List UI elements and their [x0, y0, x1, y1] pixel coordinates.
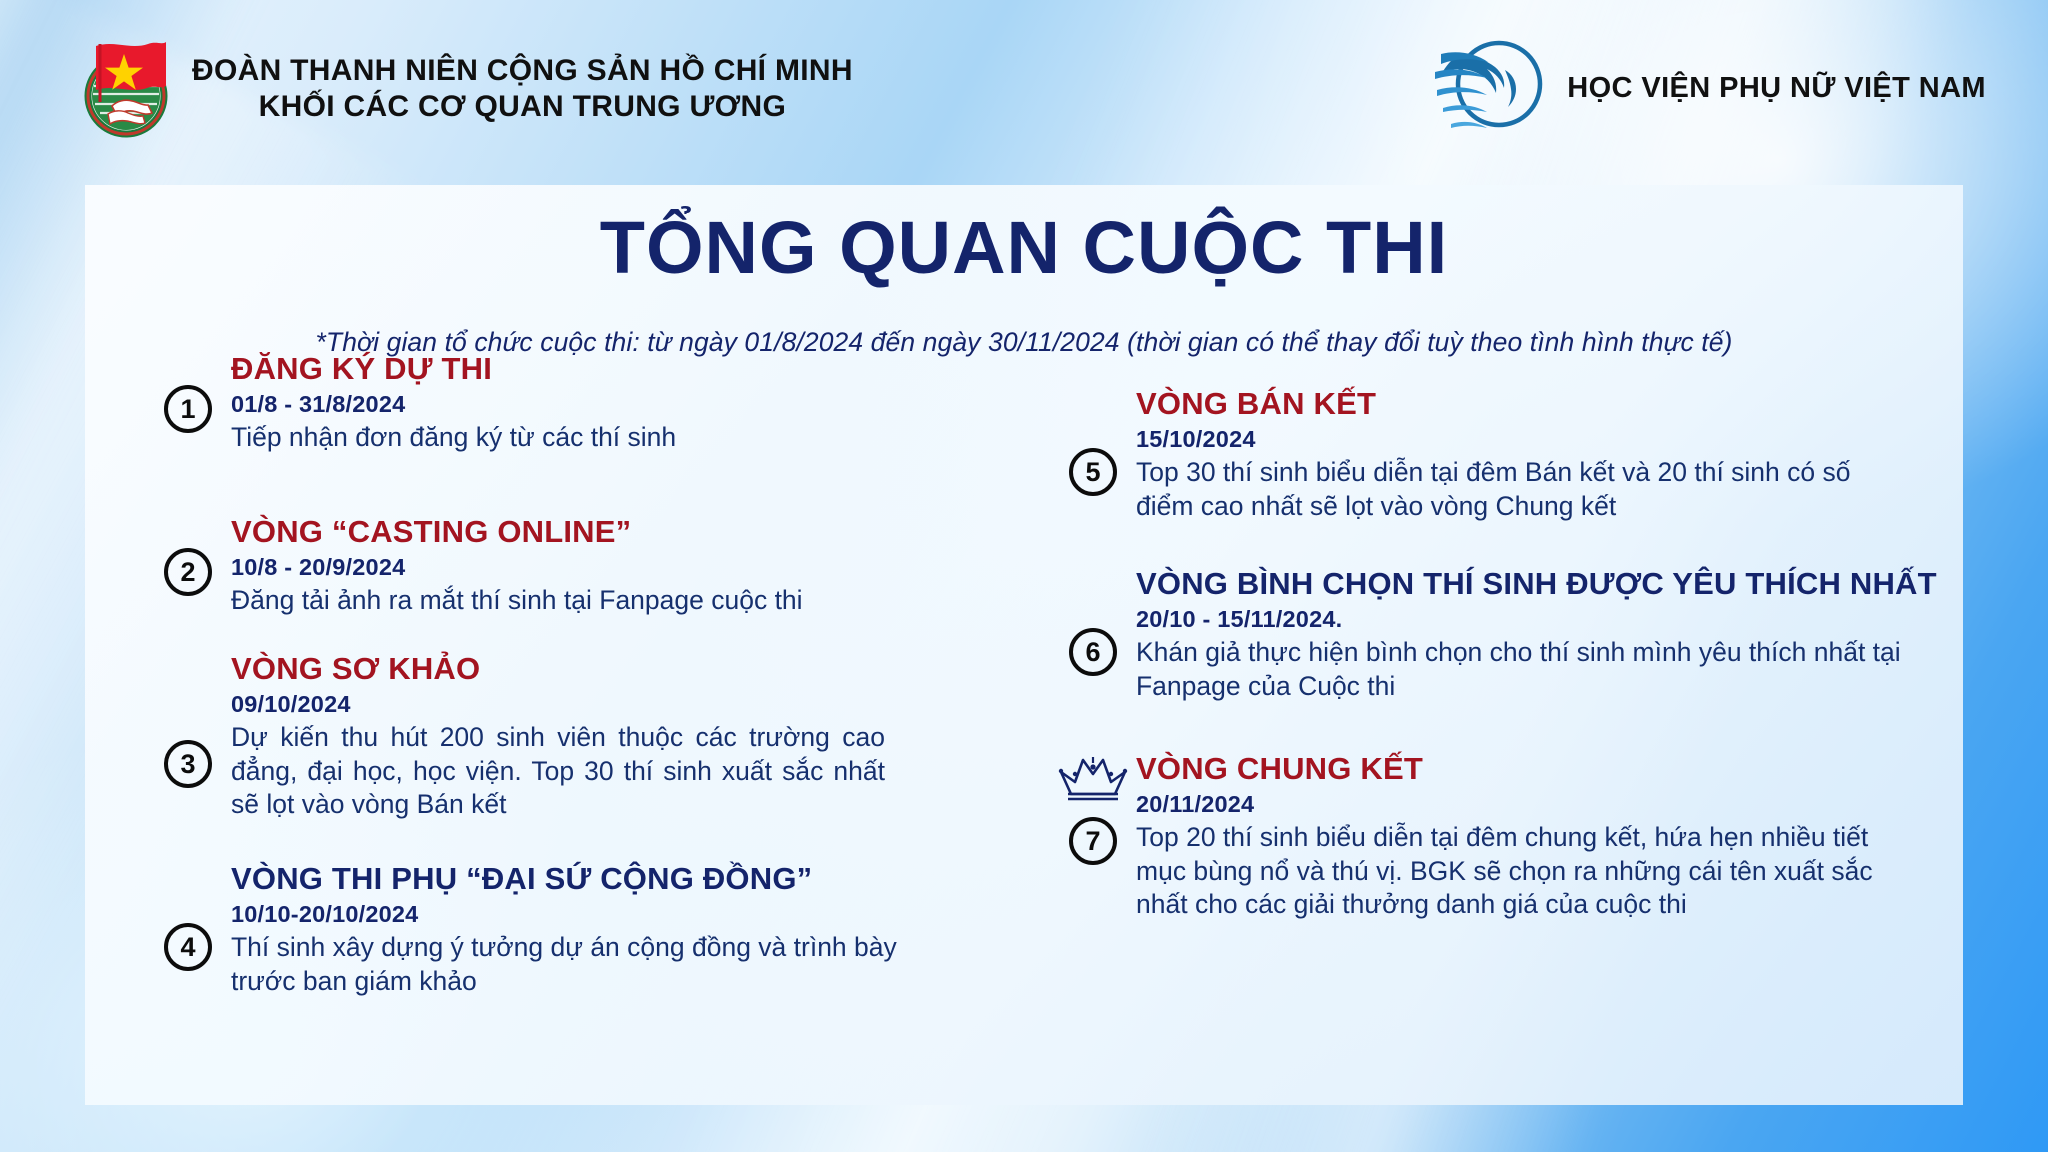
step-number-3: 3	[164, 740, 212, 788]
step-heading-2: VÒNG “CASTING ONLINE”	[231, 516, 925, 549]
step-item-6: 6 VÒNG BÌNH CHỌN THÍ SINH ĐƯỢC YÊU THÍCH…	[1050, 568, 1930, 703]
org-line-2: KHỐI CÁC CƠ QUAN TRUNG ƯƠNG	[192, 89, 853, 124]
right-organization-name: HỌC VIỆN PHỤ NỮ VIỆT NAM	[1567, 72, 1986, 105]
step-badge-wrap-5: 5	[1050, 388, 1136, 496]
step-number-5: 5	[1069, 448, 1117, 496]
step-description-2: Đăng tải ảnh ra mắt thí sinh tại Fanpage…	[231, 584, 925, 618]
step-number-2: 2	[164, 548, 212, 596]
step-badge-wrap-7: 7	[1050, 753, 1136, 865]
step-description-4: Thí sinh xây dựng ý tưởng dự án cộng đồn…	[231, 931, 945, 998]
overview-card: TỔNG QUAN CUỘC THI *Thời gian tổ chức cu…	[85, 185, 1963, 1105]
step-body-6: VÒNG BÌNH CHỌN THÍ SINH ĐƯỢC YÊU THÍCH N…	[1136, 568, 1930, 703]
step-heading-3: VÒNG SƠ KHẢO	[231, 653, 885, 686]
step-date-2: 10/8 - 20/9/2024	[231, 554, 925, 581]
step-description-5: Top 30 thí sinh biểu diễn tại đêm Bán kế…	[1136, 456, 1910, 523]
step-heading-7: VÒNG CHUNG KẾT	[1136, 753, 1910, 786]
vietnam-womens-academy-dove-logo-icon	[1421, 34, 1551, 143]
step-item-5: 5 VÒNG BÁN KẾT 15/10/2024 Top 30 thí sin…	[1050, 388, 1910, 523]
step-date-5: 15/10/2024	[1136, 426, 1910, 453]
step-heading-4: VÒNG THI PHỤ “ĐẠI SỨ CỘNG ĐỒNG”	[231, 863, 945, 896]
step-body-5: VÒNG BÁN KẾT 15/10/2024 Top 30 thí sinh …	[1136, 388, 1910, 523]
step-item-4: 4 VÒNG THI PHỤ “ĐẠI SỨ CỘNG ĐỒNG” 10/10-…	[145, 863, 945, 998]
step-badge-wrap-3: 3	[145, 653, 231, 788]
step-number-7: 7	[1069, 817, 1117, 865]
step-item-3: 3 VÒNG SƠ KHẢO 09/10/2024 Dự kiến thu hú…	[145, 653, 885, 822]
step-body-2: VÒNG “CASTING ONLINE” 10/8 - 20/9/2024 Đ…	[231, 516, 925, 618]
ho-chi-minh-communist-youth-union-emblem-icon	[78, 34, 174, 143]
crown-icon	[1055, 753, 1131, 810]
org-line-1: ĐOÀN THANH NIÊN CỘNG SẢN HỒ CHÍ MINH	[192, 53, 853, 88]
step-description-3: Dự kiến thu hút 200 sinh viên thuộc các …	[231, 721, 885, 822]
step-description-1: Tiếp nhận đơn đăng ký từ các thí sinh	[231, 421, 905, 455]
step-number-4: 4	[164, 923, 212, 971]
right-organization: HỌC VIỆN PHỤ NỮ VIỆT NAM	[1421, 34, 1986, 143]
step-heading-1: ĐĂNG KÝ DỰ THI	[231, 353, 905, 386]
step-item-2: 2 VÒNG “CASTING ONLINE” 10/8 - 20/9/2024…	[145, 516, 925, 618]
step-description-6: Khán giả thực hiện bình chọn cho thí sin…	[1136, 636, 1930, 703]
step-number-1: 1	[164, 385, 212, 433]
step-body-1: ĐĂNG KÝ DỰ THI 01/8 - 31/8/2024 Tiếp nhậ…	[231, 353, 905, 455]
header: ĐOÀN THANH NIÊN CỘNG SẢN HỒ CHÍ MINH KHỐ…	[0, 0, 2048, 180]
step-body-7: VÒNG CHUNG KẾT 20/11/2024 Top 20 thí sin…	[1136, 753, 1910, 922]
step-body-3: VÒNG SƠ KHẢO 09/10/2024 Dự kiến thu hút …	[231, 653, 885, 822]
step-heading-6: VÒNG BÌNH CHỌN THÍ SINH ĐƯỢC YÊU THÍCH N…	[1136, 568, 1930, 601]
left-organization: ĐOÀN THANH NIÊN CỘNG SẢN HỒ CHÍ MINH KHỐ…	[78, 34, 853, 143]
step-body-4: VÒNG THI PHỤ “ĐẠI SỨ CỘNG ĐỒNG” 10/10-20…	[231, 863, 945, 998]
page-title: TỔNG QUAN CUỘC THI	[85, 211, 1963, 285]
step-date-4: 10/10-20/10/2024	[231, 901, 945, 928]
step-badge-wrap-1: 1	[145, 353, 231, 433]
step-date-7: 20/11/2024	[1136, 791, 1910, 818]
step-badge-wrap-2: 2	[145, 516, 231, 596]
step-item-7: 7 VÒNG CHUNG KẾT 20/11/2024 Top 20 thí s…	[1050, 753, 1910, 922]
step-date-6: 20/10 - 15/11/2024.	[1136, 606, 1930, 633]
step-badge-wrap-6: 6	[1050, 568, 1136, 676]
step-date-1: 01/8 - 31/8/2024	[231, 391, 905, 418]
left-organization-text: ĐOÀN THANH NIÊN CỘNG SẢN HỒ CHÍ MINH KHỐ…	[192, 53, 853, 124]
step-badge-wrap-4: 4	[145, 863, 231, 971]
step-number-6: 6	[1069, 628, 1117, 676]
step-item-1: 1 ĐĂNG KÝ DỰ THI 01/8 - 31/8/2024 Tiếp n…	[145, 353, 905, 455]
step-description-7: Top 20 thí sinh biểu diễn tại đêm chung …	[1136, 821, 1910, 922]
step-date-3: 09/10/2024	[231, 691, 885, 718]
step-heading-5: VÒNG BÁN KẾT	[1136, 388, 1910, 421]
